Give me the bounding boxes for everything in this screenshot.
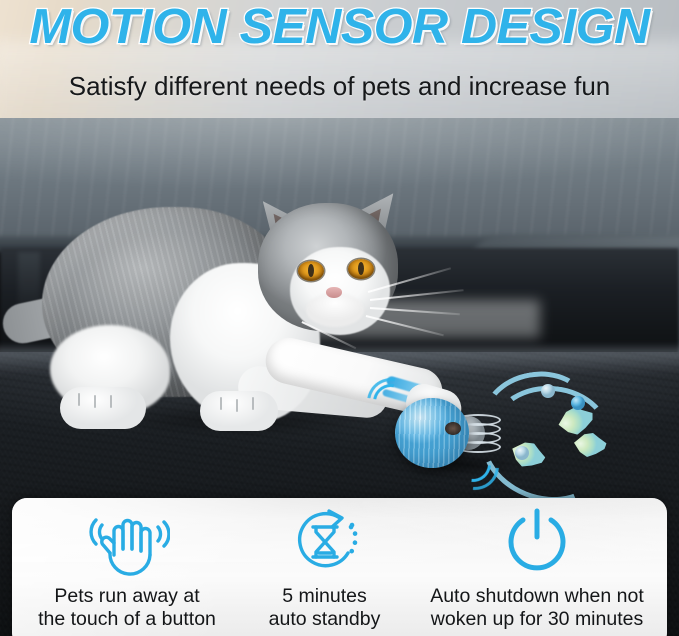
feature-item-touch: Pets run away at the touch of a button (12, 504, 242, 636)
feature-caption-line2: auto standby (269, 608, 381, 631)
cat-toe-line (236, 399, 238, 412)
feature-caption-line2: woken up for 30 minutes (430, 608, 644, 631)
cat-toe-line (78, 393, 80, 406)
feature-caption: Auto shutdown when not woken up for 30 m… (430, 585, 644, 631)
power-icon (498, 504, 576, 580)
page-title: MOTION SENSOR DESIGN (0, 0, 679, 56)
feature-caption: Pets run away at the touch of a button (38, 585, 216, 631)
feature-caption-line1: Auto shutdown when not (430, 585, 644, 608)
toy-bead (541, 384, 555, 398)
cat-pupil-right (358, 262, 364, 275)
cat-toe-line (220, 397, 222, 410)
feature-caption-line2: the touch of a button (38, 608, 216, 631)
cat-middle-paw (200, 391, 278, 431)
feature-caption-line1: 5 minutes (269, 585, 381, 608)
toy-bead (515, 446, 529, 460)
motion-sensor-ball-toy (395, 390, 505, 470)
feature-item-autoshutdown: Auto shutdown when not woken up for 30 m… (407, 504, 667, 636)
toy-sensor-eye (445, 422, 461, 435)
product-marketing-image: MOTION SENSOR DESIGN Satisfy different n… (0, 0, 679, 636)
cat-rear-paw (60, 387, 146, 429)
feature-panel: Pets run away at the touch of a button (12, 498, 667, 636)
cat-whisker (366, 315, 444, 336)
page-subtitle: Satisfy different needs of pets and incr… (0, 70, 679, 102)
feature-list: Pets run away at the touch of a button (12, 504, 667, 636)
cat-pupil-left (308, 264, 314, 277)
cat-muzzle (306, 293, 364, 327)
waving-hand-icon (84, 504, 170, 580)
toy-bead (571, 396, 585, 410)
cat-toe-line (252, 397, 254, 410)
feature-caption: 5 minutes auto standby (269, 585, 381, 631)
feature-item-standby: 5 minutes auto standby (242, 504, 407, 636)
cat-toe-line (110, 395, 112, 408)
hourglass-refresh-icon (285, 504, 365, 580)
header-banner: MOTION SENSOR DESIGN Satisfy different n… (0, 0, 679, 118)
cat-toe-line (94, 395, 96, 408)
cat-nose (326, 287, 342, 298)
feature-caption-line1: Pets run away at (38, 585, 216, 608)
